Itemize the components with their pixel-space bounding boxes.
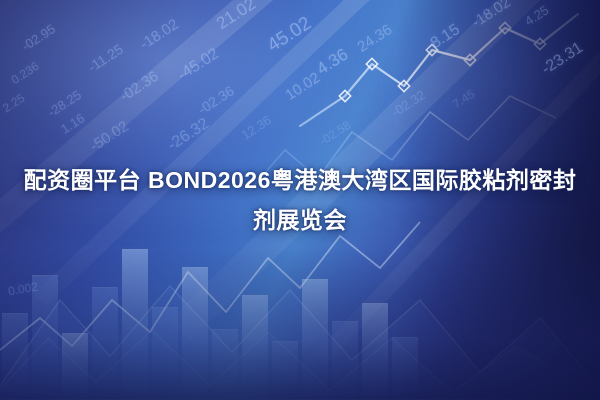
banner-image: 21.02 -18.02 45.02 4.36 8.15 -23.31 -02.…: [0, 0, 600, 400]
headline-text: 配资圈平台 BOND2026粤港澳大湾区国际胶粘剂密封剂展览会: [22, 160, 578, 240]
headline-container: 配资圈平台 BOND2026粤港澳大湾区国际胶粘剂密封剂展览会: [0, 0, 600, 400]
